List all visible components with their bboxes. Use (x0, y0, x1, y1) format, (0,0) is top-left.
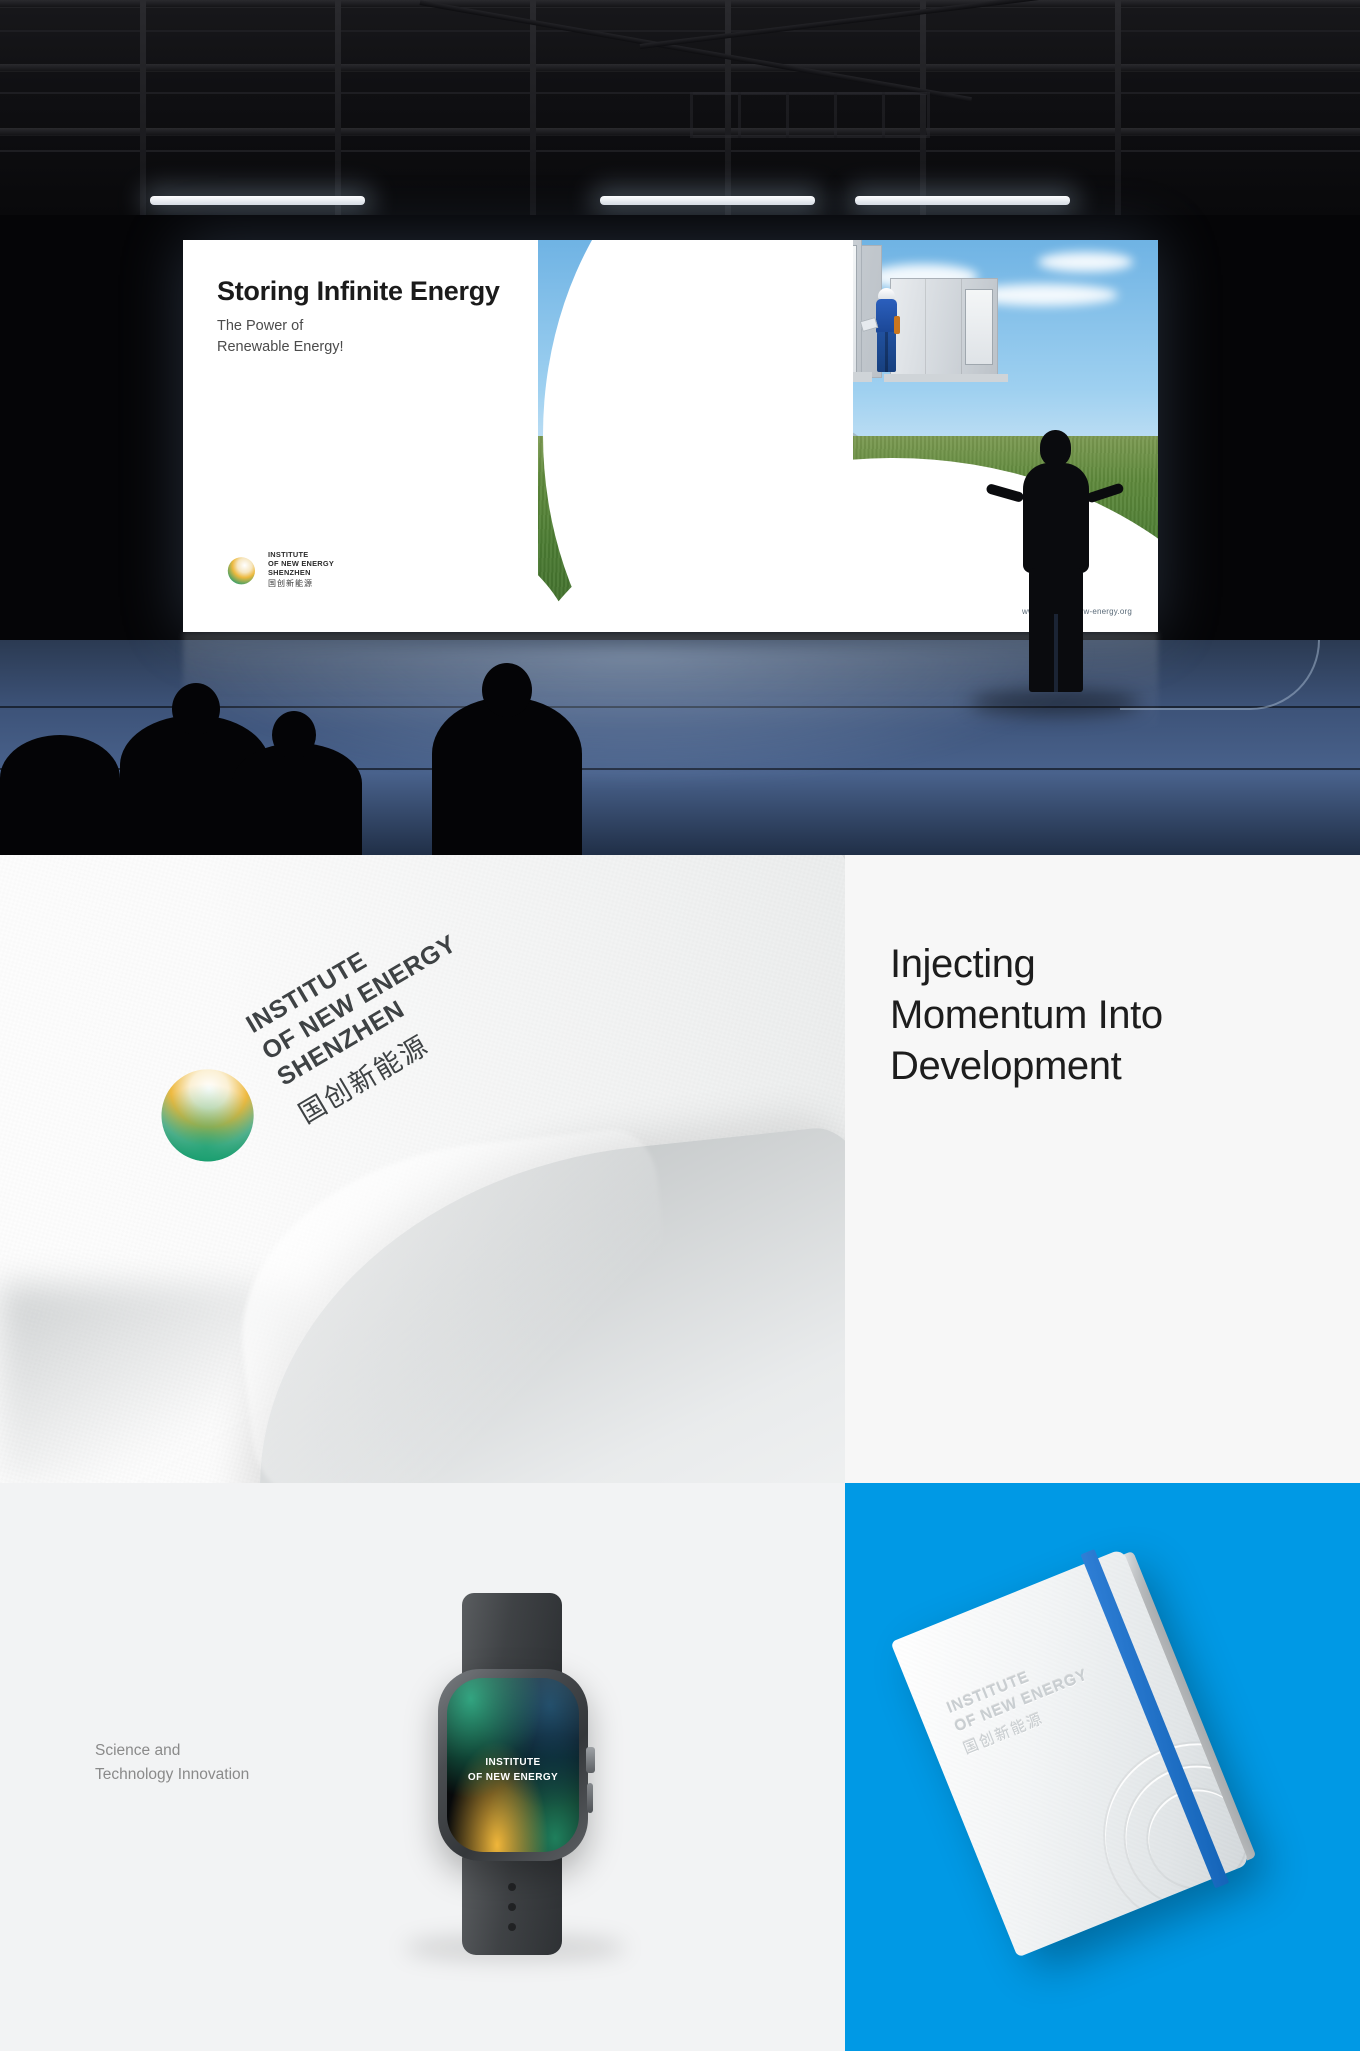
presenter-silhouette (1010, 430, 1102, 692)
stage-panel: Storing Infinite Energy The Power of Ren… (0, 0, 1360, 855)
watch-caption: Science and Technology Innovation (95, 1739, 249, 1787)
notebook-mockup: INSTITUTE OF NEW ENERGY 国创新能源 (890, 1549, 1249, 1958)
watch-face-text: INSTITUTE OF NEW ENERGY (447, 1756, 579, 1785)
ceiling-light-3 (855, 196, 1070, 205)
ceiling-truss-icon (690, 92, 930, 138)
watch-caption-line1: Science and (95, 1742, 180, 1759)
headline-panel: Injecting Momentum Into Development (845, 855, 1360, 1483)
watch-side-button-icon[interactable] (587, 1783, 593, 1813)
slide-subtitle: The Power of Renewable Energy! (217, 316, 344, 358)
headline-line-3: Development (890, 1044, 1121, 1088)
audience-silhouette-2 (232, 743, 362, 855)
audience-head-2 (272, 711, 316, 759)
headline-text: Injecting Momentum Into Development (890, 939, 1320, 1093)
presenter-shadow (970, 690, 1140, 716)
watch-face-line2: OF NEW ENERGY (468, 1772, 558, 1783)
watch-caption-line2: Technology Innovation (95, 1766, 249, 1783)
slide-logo-text: INSTITUTE OF NEW ENERGY SHENZHEN 国创新能源 (268, 551, 334, 589)
paper-logo-panel: INSTITUTE OF NEW ENERGY SHENZHEN 国创新能源 (0, 855, 845, 1483)
slide-logo-cn: 国创新能源 (268, 579, 334, 588)
notebook-cover: INSTITUTE OF NEW ENERGY 国创新能源 (890, 1549, 1249, 1958)
watch-case: INSTITUTE OF NEW ENERGY (438, 1669, 588, 1861)
watch-display[interactable]: INSTITUTE OF NEW ENERGY (447, 1678, 579, 1852)
watch-panel: Science and Technology Innovation INSTIT… (0, 1483, 845, 2051)
watch-band-bottom (462, 1853, 562, 1955)
slide-subtitle-line1: The Power of (217, 318, 303, 334)
slide-subtitle-line2: Renewable Energy! (217, 339, 344, 355)
watch-face-line1: INSTITUTE (485, 1757, 540, 1768)
audience-silhouette-4 (0, 735, 120, 855)
notebook-panel: INSTITUTE OF NEW ENERGY 国创新能源 (845, 1483, 1360, 2051)
slide-title: Storing Infinite Energy (217, 276, 500, 307)
ceiling-light-2 (600, 196, 815, 205)
slide-brand-logo: INSTITUTE OF NEW ENERGY SHENZHEN 国创新能源 (219, 550, 334, 590)
headline-line-1: Injecting (890, 942, 1035, 986)
audience-head-1 (172, 683, 220, 735)
smartwatch-mockup: INSTITUTE OF NEW ENERGY (432, 1615, 594, 1925)
ceiling-light-1 (150, 196, 365, 205)
ceiling-structure (0, 0, 1360, 215)
watch-crown-icon[interactable] (586, 1747, 595, 1773)
battery-container-secondary (890, 278, 998, 380)
audience-silhouette-3 (432, 697, 582, 855)
brand-orb-icon (219, 550, 259, 590)
slide-logo-en-3: SHENZHEN (268, 569, 334, 578)
audience-head-3 (482, 663, 532, 717)
headline-line-2: Momentum Into (890, 993, 1163, 1037)
